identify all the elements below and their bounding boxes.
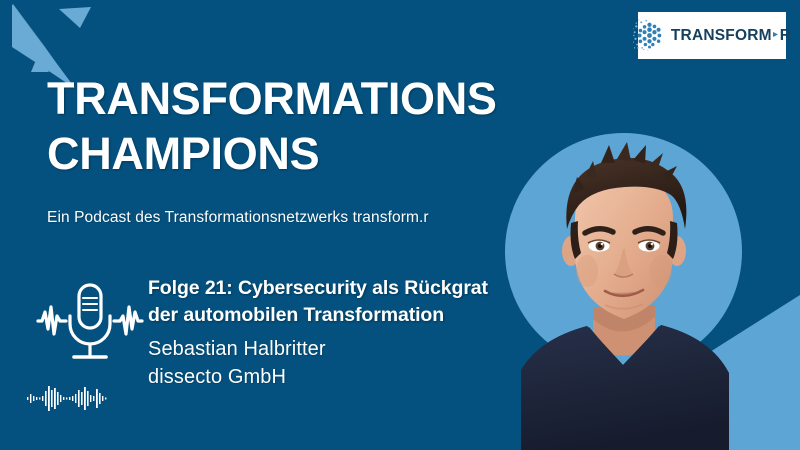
page-title-line2: CHAMPIONS — [47, 127, 527, 182]
transformr-logo[interactable]: TRANSFORMR — [638, 12, 786, 59]
dot-cluster-logo-icon — [633, 19, 666, 52]
page-title-line1: TRANSFORMATIONS — [47, 73, 497, 124]
episode-title: Folge 21: Cybersecurity als Rückgrat der… — [148, 275, 508, 330]
speaker-organization: dissecto GmbH — [148, 366, 286, 389]
logo-wordmark-suffix: R — [780, 27, 791, 45]
audio-waveform-icon — [26, 383, 114, 413]
triangle-decoration-small-bottom — [30, 54, 52, 74]
avatar — [505, 133, 742, 450]
microphone-with-soundwave-icon — [36, 276, 144, 366]
podcast-episode-cover: TRANSFORMR TRANSFORMATIONS CHAMPIONS Ein… — [0, 0, 800, 450]
logo-dot-mark — [772, 27, 780, 38]
episode-title-line1: Folge 21: Cybersecurity als Rückgrat — [148, 277, 488, 299]
speaker-name: Sebastian Halbritter — [148, 338, 326, 361]
logo-wordmark-main: TRANSFORM — [671, 27, 772, 45]
page-title: TRANSFORMATIONS CHAMPIONS — [47, 72, 527, 182]
podcast-subtitle: Ein Podcast des Transformationsnetzwerks… — [47, 209, 429, 227]
triangle-decoration-small-right — [58, 6, 92, 30]
logo-wordmark: TRANSFORMR — [671, 27, 791, 45]
episode-title-line2: der automobilen Transformation — [148, 304, 444, 326]
